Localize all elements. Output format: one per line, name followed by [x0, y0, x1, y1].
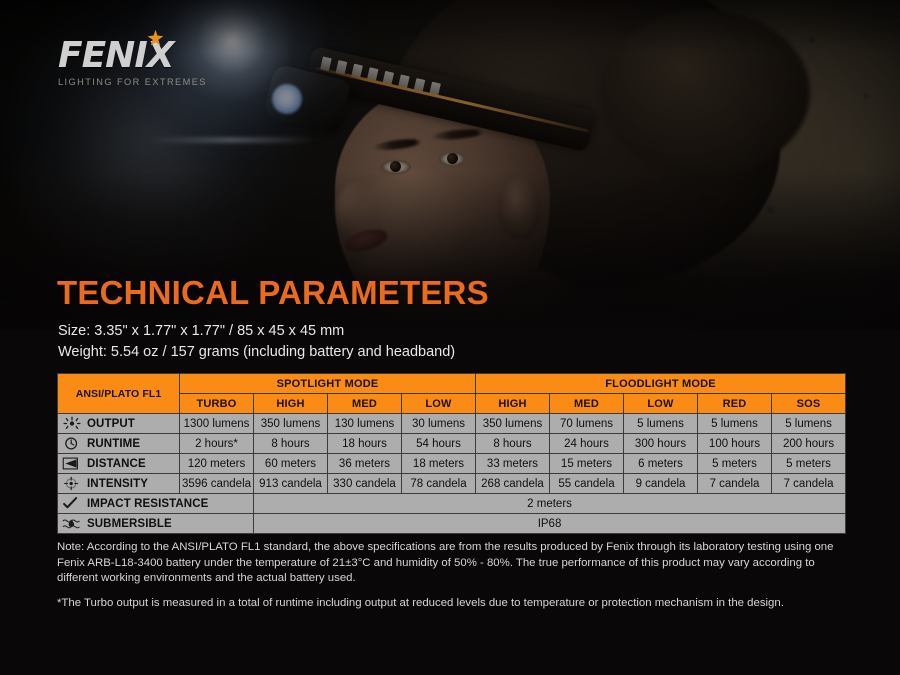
table-col-floodlight-low: LOW	[624, 394, 698, 414]
spec-size-line: Size: 3.35" x 1.77" x 1.77" / 85 x 45 x …	[58, 323, 344, 339]
checkmark-icon	[62, 496, 82, 511]
table-row: RUNTIME 2 hours* 8 hours 18 hours 54 hou…	[58, 434, 846, 454]
table-row-label-text: IMPACT RESISTANCE	[87, 498, 208, 510]
table-row-label-submersible: SUBMERSIBLE	[58, 514, 254, 534]
table-cell: 5 lumens	[698, 414, 772, 434]
sunburst-icon	[62, 416, 82, 431]
table-cell: 2 hours*	[180, 434, 254, 454]
table-row: DISTANCE 120 meters 60 meters 36 meters …	[58, 454, 846, 474]
table-col-spotlight-low: LOW	[402, 394, 476, 414]
table-row-label-text: RUNTIME	[87, 438, 140, 450]
table-cell: 5 lumens	[772, 414, 846, 434]
table-row-label-impact-resistance: IMPACT RESISTANCE	[58, 494, 254, 514]
table-cell: 3596 candela	[180, 474, 254, 494]
table-cell: 268 candela	[476, 474, 550, 494]
table-row-label-intensity: INTENSITY	[58, 474, 180, 494]
table-group-floodlight: FLOODLIGHT MODE	[476, 374, 846, 394]
table-cell: 60 meters	[254, 454, 328, 474]
table-row-label-text: SUBMERSIBLE	[87, 518, 172, 530]
table-row-label-distance: DISTANCE	[58, 454, 180, 474]
table-col-spotlight-turbo: TURBO	[180, 394, 254, 414]
logo-wordmark: FENIX	[58, 38, 207, 74]
table-cell: 33 meters	[476, 454, 550, 474]
table-row-label-text: OUTPUT	[87, 418, 135, 430]
table-cell: 120 meters	[180, 454, 254, 474]
table-cell: 18 hours	[328, 434, 402, 454]
footnote-ansi-standard: Note: According to the ANSI/PLATO FL1 st…	[57, 540, 849, 587]
table-cell: 7 candela	[698, 474, 772, 494]
table-corner-label: ANSI/PLATO FL1	[58, 374, 180, 414]
table-cell: 7 candela	[772, 474, 846, 494]
table-cell: 70 lumens	[550, 414, 624, 434]
table-group-header-row: ANSI/PLATO FL1 SPOTLIGHT MODE FLOODLIGHT…	[58, 374, 846, 394]
table-row-label-output: OUTPUT	[58, 414, 180, 434]
table-cell: 5 lumens	[624, 414, 698, 434]
table-col-spotlight-high: HIGH	[254, 394, 328, 414]
fenix-logo: FENIX LIGHTING FOR EXTREMES	[58, 38, 207, 87]
table-col-floodlight-high: HIGH	[476, 394, 550, 414]
footnote-turbo-output: *The Turbo output is measured in a total…	[57, 596, 849, 612]
table-cell: 350 lumens	[254, 414, 328, 434]
table-cell: 5 meters	[698, 454, 772, 474]
footnotes: Note: According to the ANSI/PLATO FL1 st…	[57, 540, 849, 611]
table-cell: 54 hours	[402, 434, 476, 454]
table-cell: 15 meters	[550, 454, 624, 474]
table-cell: 913 candela	[254, 474, 328, 494]
crosshair-icon	[62, 476, 82, 491]
table-cell: 55 candela	[550, 474, 624, 494]
table-cell: 5 meters	[772, 454, 846, 474]
table-cell: 36 meters	[328, 454, 402, 474]
submersible-icon	[62, 516, 82, 531]
table-cell: 9 candela	[624, 474, 698, 494]
star-icon	[146, 29, 165, 48]
page-title: TECHNICAL PARAMETERS	[57, 274, 489, 312]
table-col-floodlight-sos: SOS	[772, 394, 846, 414]
table-cell: 1300 lumens	[180, 414, 254, 434]
clock-icon	[62, 436, 82, 451]
table-cell: 350 lumens	[476, 414, 550, 434]
spec-weight-line: Weight: 5.54 oz / 157 grams (including b…	[58, 344, 455, 360]
table-row-label-text: INTENSITY	[87, 478, 148, 490]
table-row: OUTPUT 1300 lumens 350 lumens 130 lumens…	[58, 414, 846, 434]
table-cell-submersible-value: IP68	[254, 514, 846, 534]
table-row-label-text: DISTANCE	[87, 458, 146, 470]
table-cell: 78 candela	[402, 474, 476, 494]
logo-tagline: LIGHTING FOR EXTREMES	[58, 77, 207, 87]
table-cell: 18 meters	[402, 454, 476, 474]
table-cell: 30 lumens	[402, 414, 476, 434]
table-cell: 130 lumens	[328, 414, 402, 434]
table-cell: 8 hours	[254, 434, 328, 454]
table-row: SUBMERSIBLE IP68	[58, 514, 846, 534]
product-spec-page: FENIX LIGHTING FOR EXTREMES TECHNICAL PA…	[0, 0, 900, 675]
table-cell: 6 meters	[624, 454, 698, 474]
table-row: IMPACT RESISTANCE 2 meters	[58, 494, 846, 514]
table-col-spotlight-med: MED	[328, 394, 402, 414]
table-cell: 200 hours	[772, 434, 846, 454]
table-col-floodlight-red: RED	[698, 394, 772, 414]
table-cell: 100 hours	[698, 434, 772, 454]
table-cell: 300 hours	[624, 434, 698, 454]
table-col-floodlight-med: MED	[550, 394, 624, 414]
table-row: INTENSITY 3596 candela 913 candela 330 c…	[58, 474, 846, 494]
table-cell: 8 hours	[476, 434, 550, 454]
table-cell-impact-resistance-value: 2 meters	[254, 494, 846, 514]
beam-cone-icon	[62, 456, 82, 471]
table-cell: 330 candela	[328, 474, 402, 494]
table-row-label-runtime: RUNTIME	[58, 434, 180, 454]
table-group-spotlight: SPOTLIGHT MODE	[180, 374, 476, 394]
technical-parameters-table: ANSI/PLATO FL1 SPOTLIGHT MODE FLOODLIGHT…	[57, 373, 846, 534]
table-cell: 24 hours	[550, 434, 624, 454]
